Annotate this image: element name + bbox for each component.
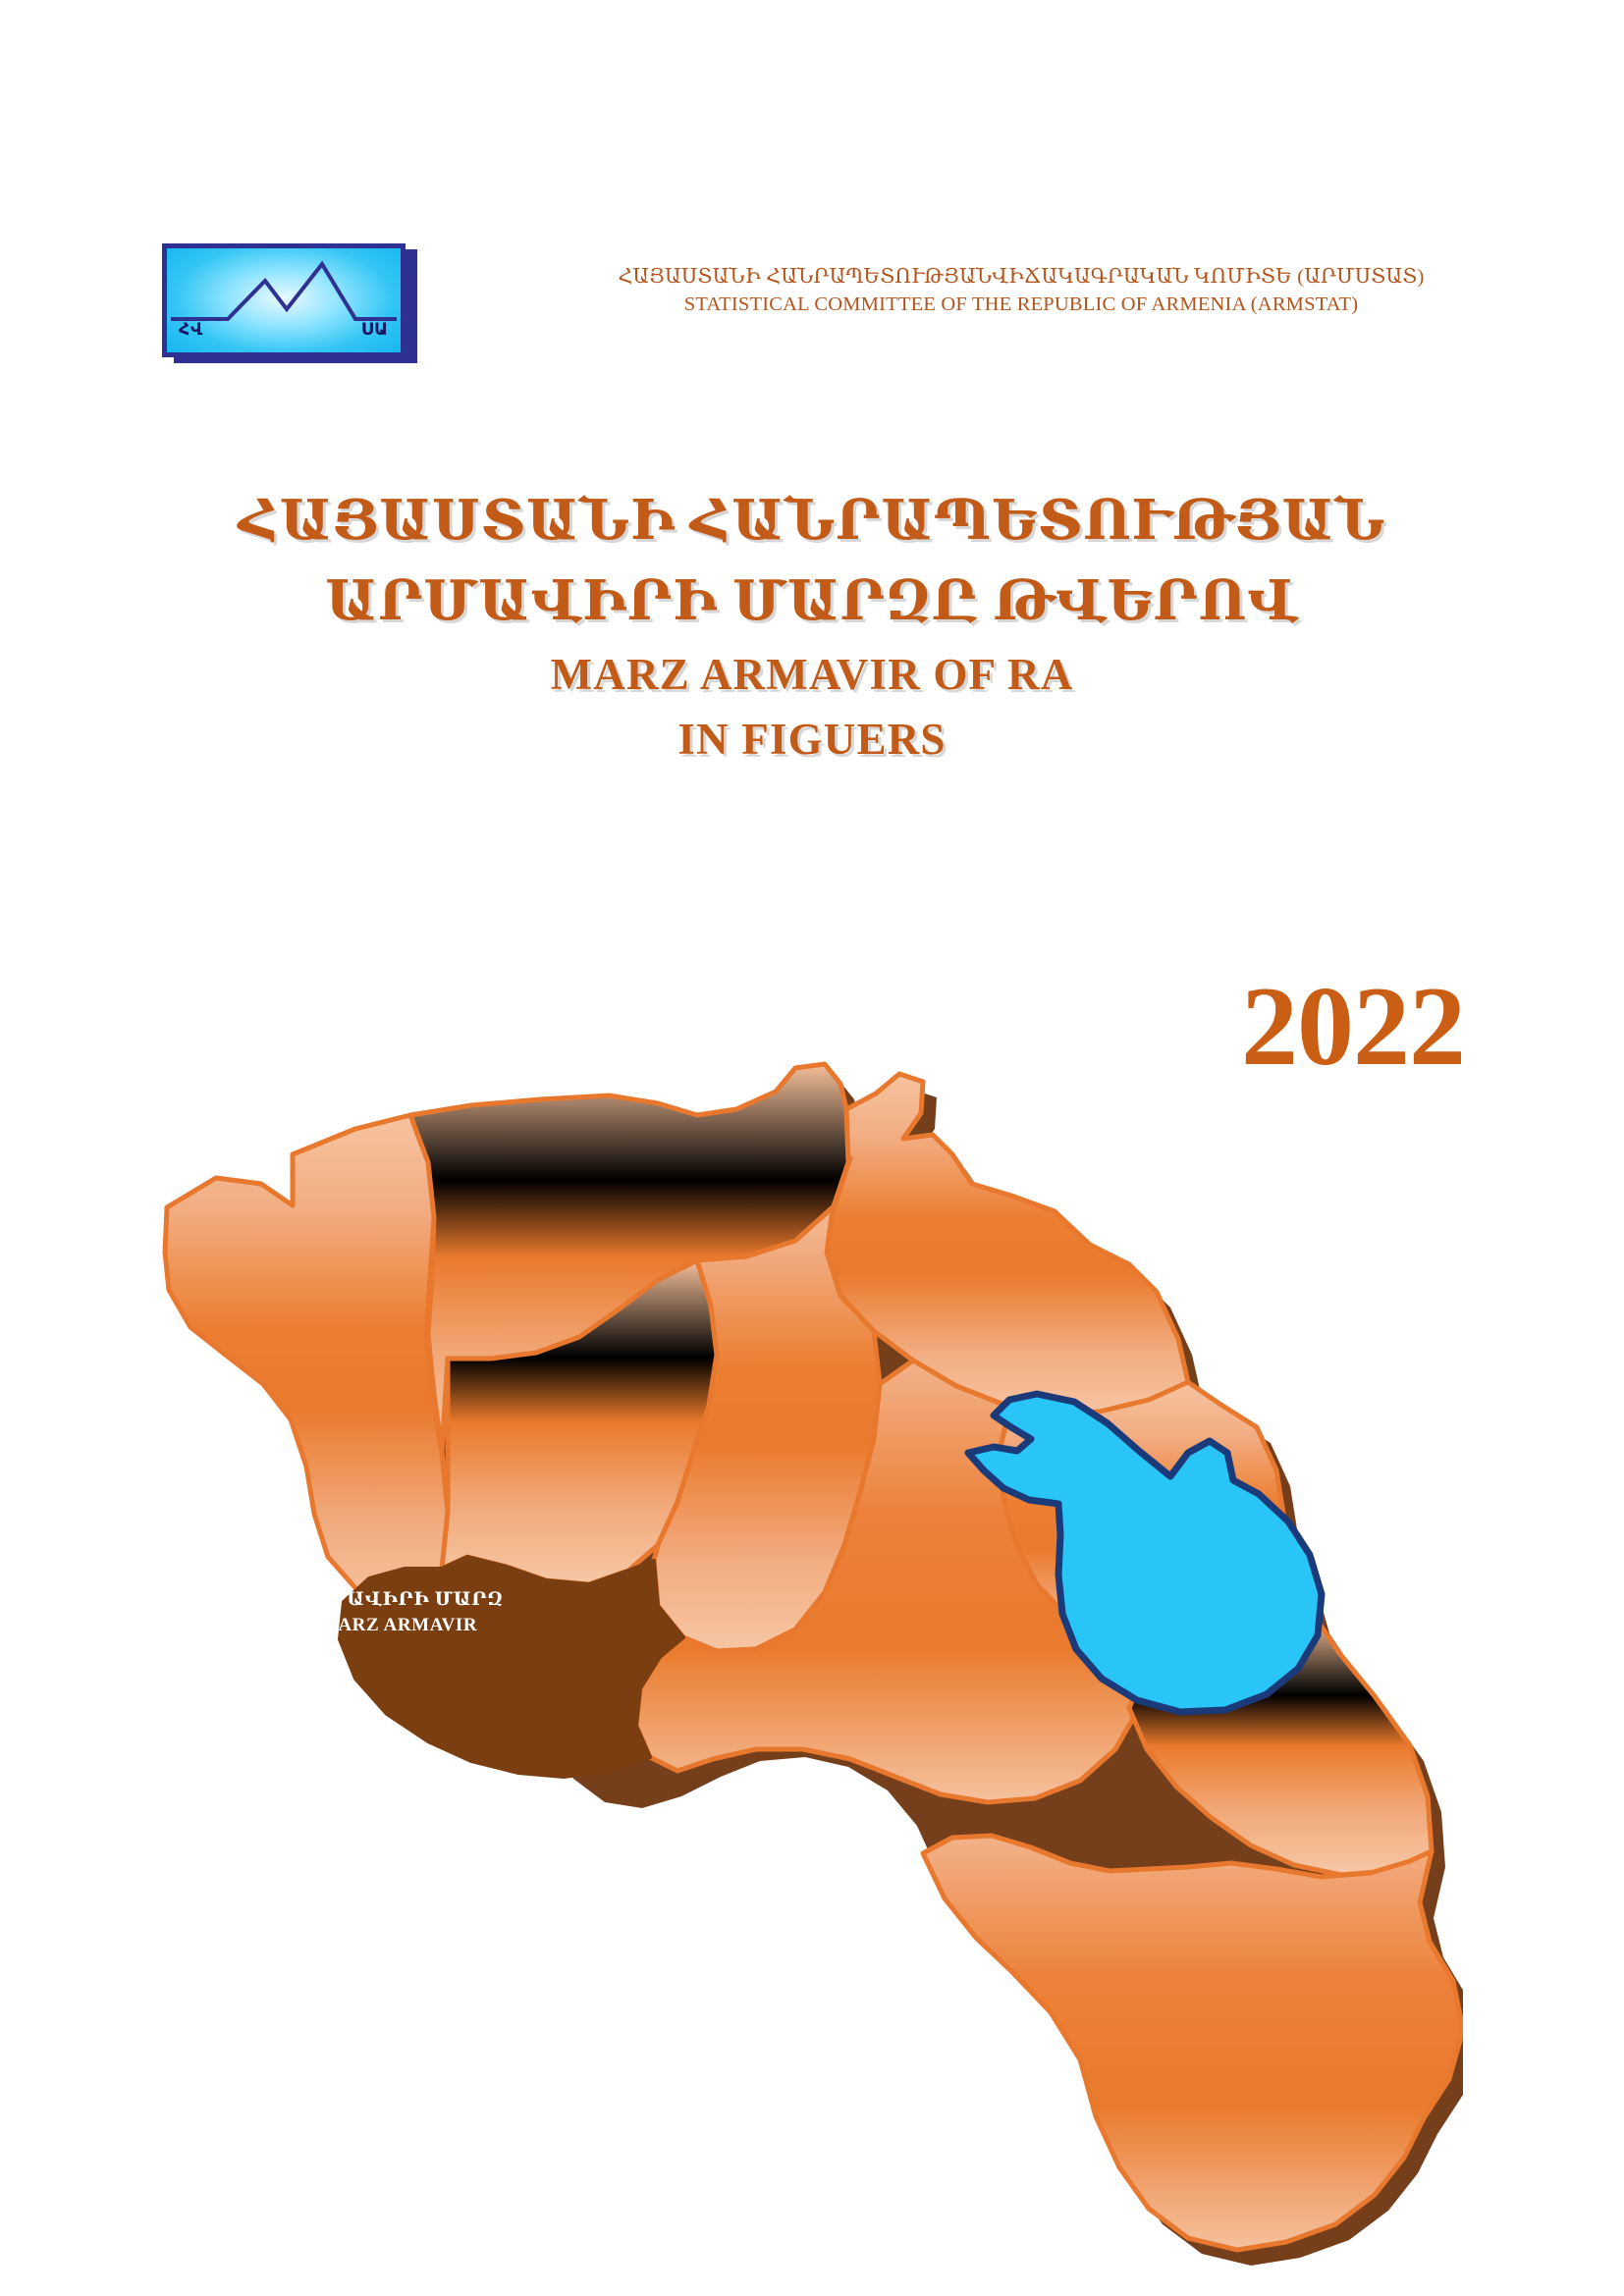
map-region-armavir xyxy=(340,1557,683,1777)
armenia-marz-map xyxy=(147,1060,1463,2268)
logo-text-right: ՍԱ xyxy=(361,320,389,340)
masthead: ՀՎ ՍԱ ՀԱՅԱՍՏԱՆԻ ՀԱՆՐԱՊԵՏՈՒԹՅԱՆՎԻՃԱԿԱԳՐԱԿ… xyxy=(0,243,1624,371)
map-region-shirak xyxy=(165,1115,448,1620)
map-region-syunik xyxy=(923,1836,1463,2250)
title-line-4-en: IN FIGUERS xyxy=(0,707,1624,772)
organization-name-en: STATISTICAL COMMITTEE OF THE REPUBLIC OF… xyxy=(471,291,1571,318)
organization-name: ՀԱՅԱՍՏԱՆԻ ՀԱՆՐԱՊԵՏՈՒԹՅԱՆՎԻՃԱԿԱԳՐԱԿԱՆ ԿՈՄ… xyxy=(471,263,1571,318)
organization-name-hy: ՀԱՅԱՍՏԱՆԻ ՀԱՆՐԱՊԵՏՈՒԹՅԱՆՎԻՃԱԿԱԳՐԱԿԱՆ ԿՈՄ… xyxy=(471,263,1571,291)
logo-frame: ՀՎ ՍԱ xyxy=(162,243,406,357)
page-title: ՀԱՅԱՍՏԱՆԻ ՀԱՆՐԱՊԵՏՈՒԹՅԱՆ ԱՐՄԱՎԻՐԻ ՄԱՐԶԸ … xyxy=(0,481,1624,772)
logo-text-left: ՀՎ xyxy=(179,320,203,340)
armstat-logo: ՀՎ ՍԱ xyxy=(162,243,417,363)
document-cover-page: ՀՎ ՍԱ ՀԱՅԱՍՏԱՆԻ ՀԱՆՐԱՊԵՏՈՒԹՅԱՆՎԻՃԱԿԱԳՐԱԿ… xyxy=(0,0,1624,2296)
title-line-3-en: MARZ ARMAVIR OF RA xyxy=(0,642,1624,707)
title-line-2-hy: ԱՐՄԱՎԻՐԻ ՄԱՐԶԸ ԹՎԵՐՈՎ xyxy=(0,561,1624,642)
logo-inner-panel: ՀՎ ՍԱ xyxy=(167,248,401,352)
title-line-1-hy: ՀԱՅԱՍՏԱՆԻ ՀԱՆՐԱՊԵՏՈՒԹՅԱՆ xyxy=(0,481,1624,561)
